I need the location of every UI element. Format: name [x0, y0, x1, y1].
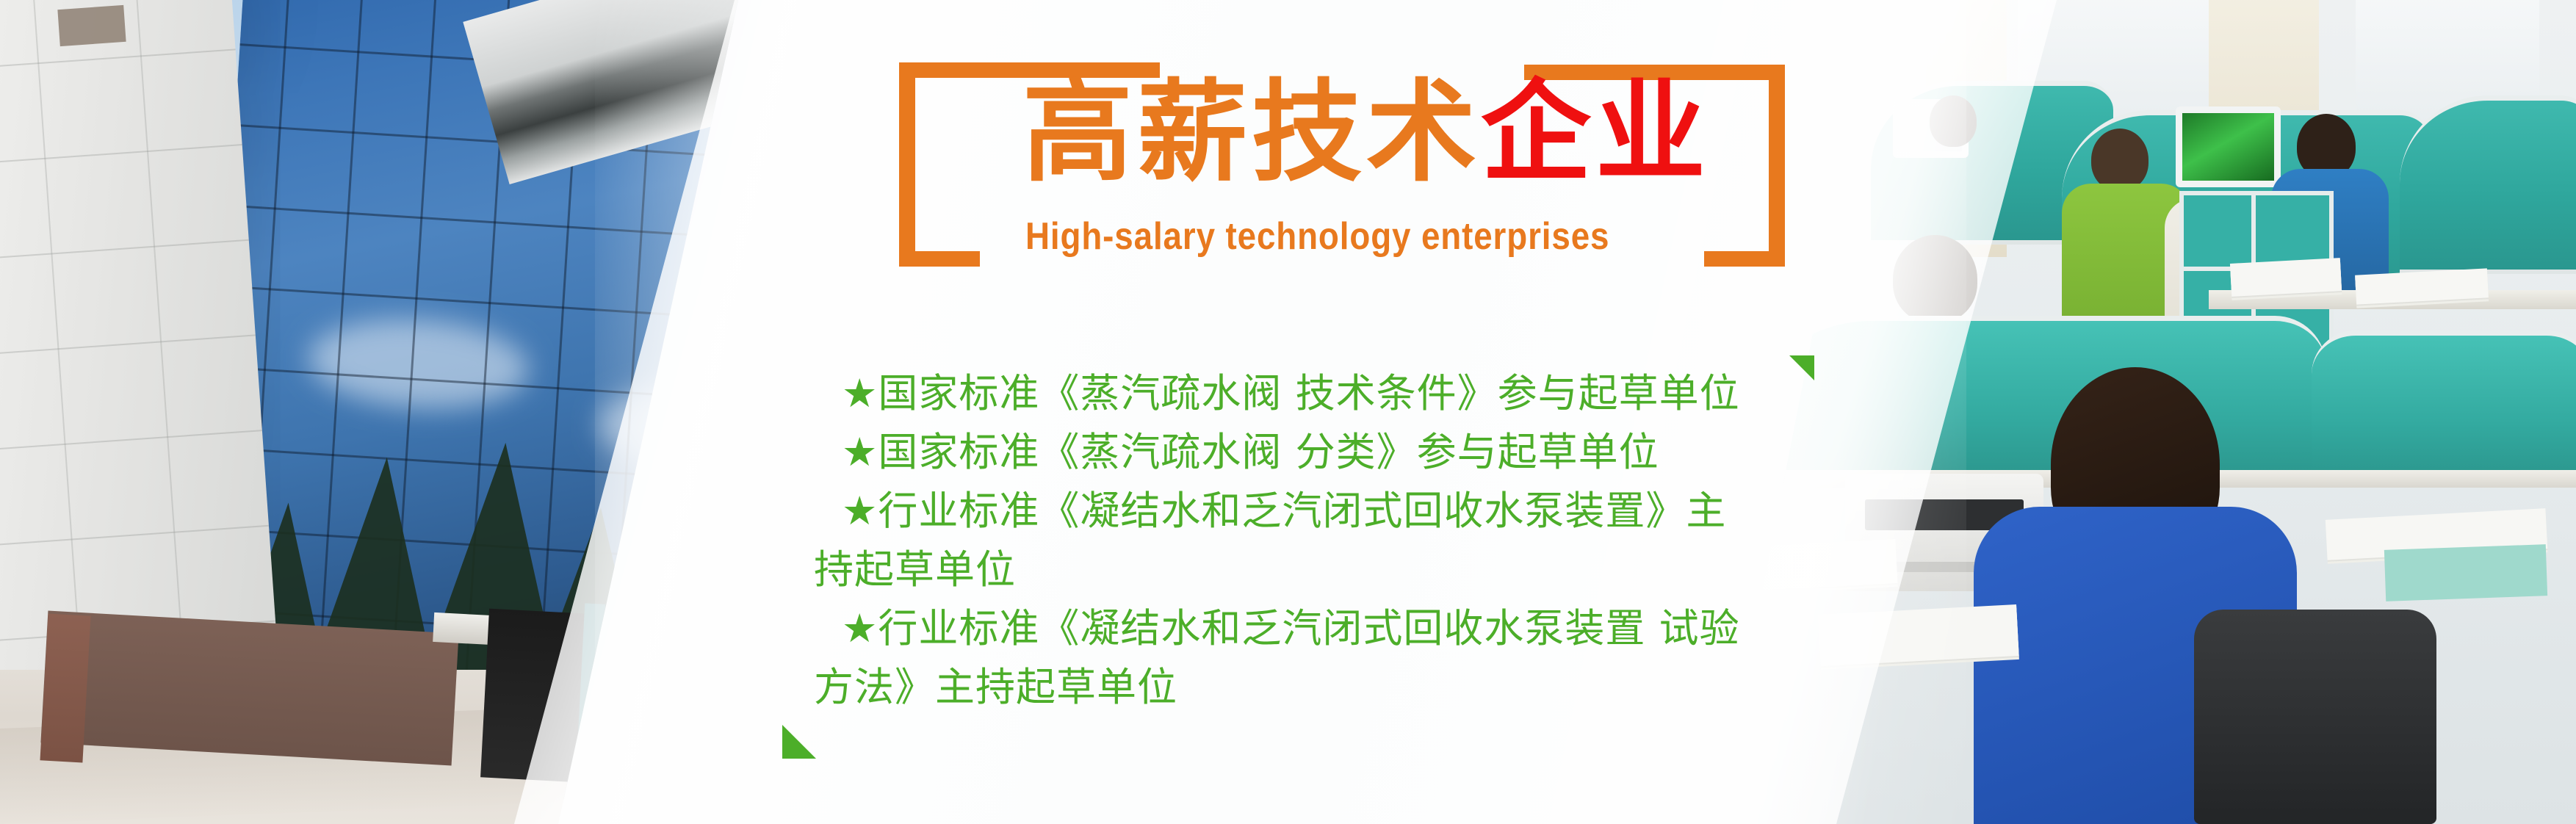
list-item-label: 行业标准《凝结水和乏汽闭式回收水泵装置 试验 [878, 605, 1739, 651]
computer-monitor [2176, 106, 2281, 187]
document-folder [2384, 544, 2547, 601]
title-primary: 高薪技术 [1022, 69, 1481, 197]
cubicle-partition [2400, 95, 2576, 274]
list-item: ★国家标准《蒸汽疏水阀 技术条件》参与起草单位 [842, 364, 1811, 423]
list-item-label: 方法》主持起草单位 [814, 664, 1177, 710]
hero-banner: 高薪技术企业 High-salary technology enterprise… [0, 0, 2576, 824]
office-chair [2194, 610, 2436, 824]
cubicle-partition [2312, 330, 2576, 487]
list-item-continuation: 方法》主持起草单位 [814, 658, 1811, 717]
list-item: ★国家标准《蒸汽疏水阀 分类》参与起草单位 [842, 423, 1811, 482]
list-item-label: 行业标准《凝结水和乏汽闭式回收水泵装置》主 [878, 488, 1726, 534]
achievement-list: ★国家标准《蒸汽疏水阀 技术条件》参与起草单位 ★国家标准《蒸汽疏水阀 分类》参… [842, 364, 1811, 717]
paper-stack [2230, 258, 2342, 297]
list-item-continuation: 持起草单位 [814, 541, 1811, 599]
wall-vent [57, 5, 126, 46]
triangle-down-left-icon [1789, 355, 1814, 380]
banner-title: 高薪技术企业 [1022, 78, 1710, 188]
bullet-star-icon: ★ [842, 370, 878, 416]
brick-wall [40, 611, 458, 766]
bullet-star-icon: ★ [842, 429, 878, 475]
bullet-star-icon: ★ [842, 488, 878, 534]
banner-subtitle: High-salary technology enterprises [1025, 214, 1609, 259]
bullet-star-icon: ★ [842, 605, 878, 651]
worker-head [2091, 129, 2149, 191]
list-item-label: 国家标准《蒸汽疏水阀 分类》参与起草单位 [878, 429, 1659, 475]
list-item-label: 国家标准《蒸汽疏水阀 技术条件》参与起草单位 [878, 370, 1739, 416]
list-item-label: 持起草单位 [814, 546, 1016, 593]
list-item: ★行业标准《凝结水和乏汽闭式回收水泵装置 试验 [842, 599, 1811, 658]
list-item: ★行业标准《凝结水和乏汽闭式回收水泵装置》主 [842, 482, 1811, 541]
title-accent: 企业 [1481, 69, 1710, 197]
brick-pillar [40, 614, 90, 763]
triangle-up-right-icon [782, 725, 816, 759]
